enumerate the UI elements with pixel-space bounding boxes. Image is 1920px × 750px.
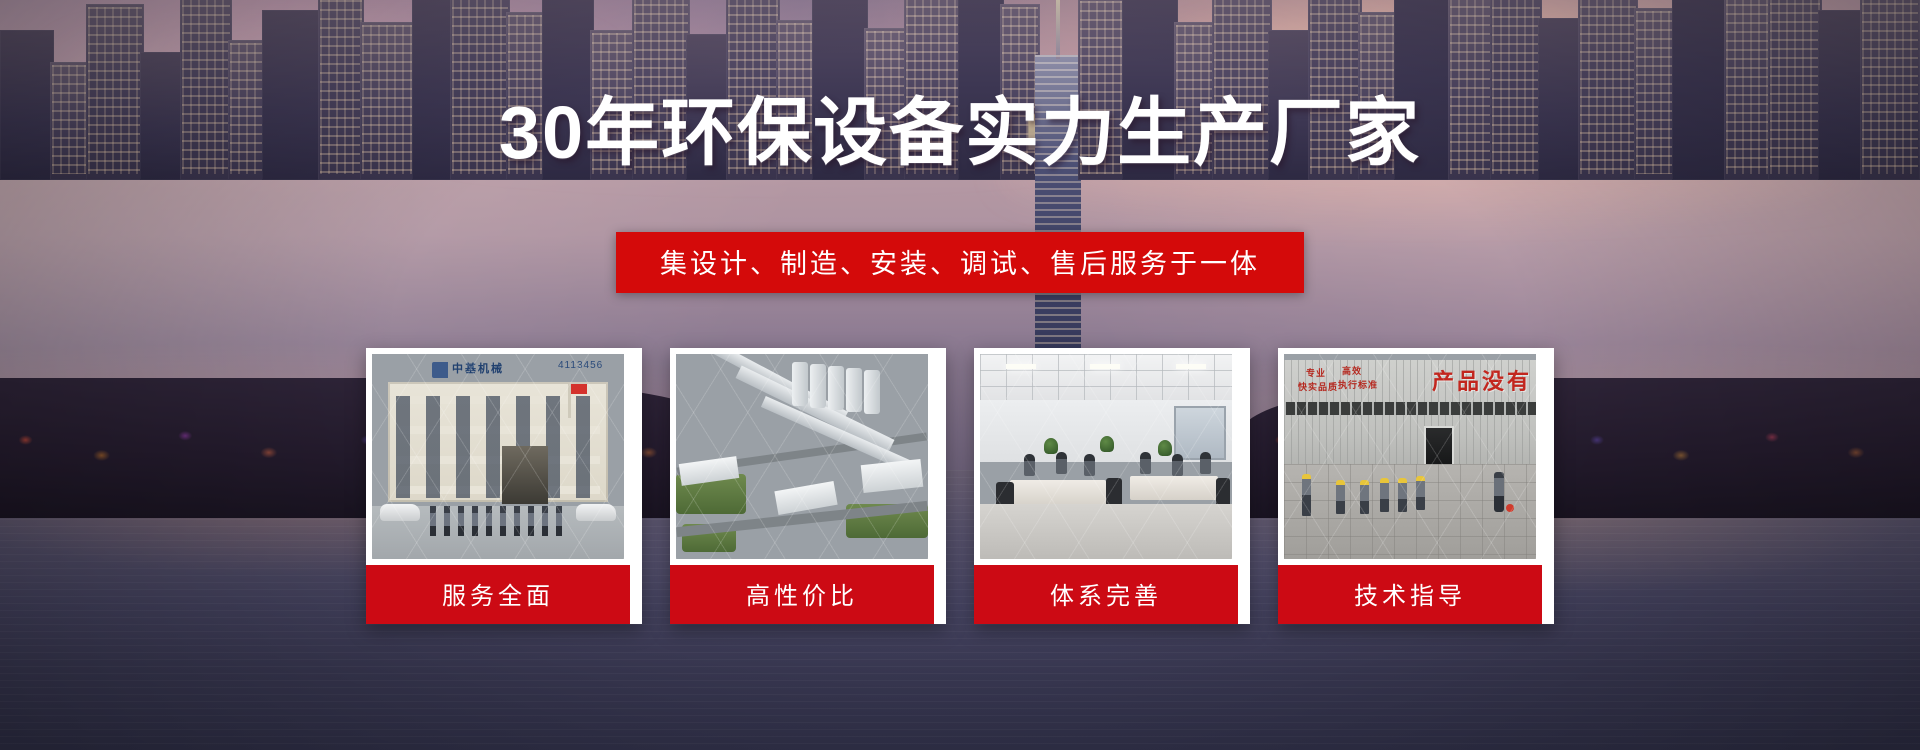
photo-company-name: 中基机械 — [452, 360, 504, 376]
feature-card[interactable]: 高性价比 — [670, 348, 946, 624]
feature-card-list: 中基机械 4113456 服务全面 — [366, 348, 1554, 624]
card-label: 高性价比 — [670, 565, 934, 624]
factory-slogan-main: 产品没有 — [1432, 364, 1532, 396]
feature-card[interactable]: 产品没有 专业 高效 快实品质 执行标准 技术指导 — [1278, 348, 1554, 624]
card-label: 体系完善 — [974, 565, 1238, 624]
subtitle-banner: 集设计、制造、安装、调试、售后服务于一体 — [616, 232, 1304, 293]
feature-card[interactable]: 中基机械 4113456 服务全面 — [366, 348, 642, 624]
photo-company-code: 4113456 — [558, 360, 603, 371]
factory-slogan-small-3: 快实品质 — [1298, 382, 1338, 393]
card-photo-company-office-building: 中基机械 4113456 — [372, 354, 624, 559]
hero-banner: 30年环保设备实力生产厂家 集设计、制造、安装、调试、售后服务于一体 中基机械 … — [0, 0, 1920, 750]
card-photo-office-interior — [980, 354, 1232, 559]
factory-slogan-small-1: 专业 — [1306, 368, 1326, 379]
card-photo-aerial-production-plant — [676, 354, 928, 559]
feature-card[interactable]: 体系完善 — [974, 348, 1250, 624]
card-label: 服务全面 — [366, 565, 630, 624]
factory-slogan-small-2: 高效 — [1342, 366, 1362, 377]
card-photo-factory-yard-workers: 产品没有 专业 高效 快实品质 执行标准 — [1284, 354, 1536, 559]
factory-slogan-small-4: 执行标准 — [1338, 380, 1378, 391]
page-title: 30年环保设备实力生产厂家 — [0, 96, 1920, 170]
card-label: 技术指导 — [1278, 565, 1542, 624]
